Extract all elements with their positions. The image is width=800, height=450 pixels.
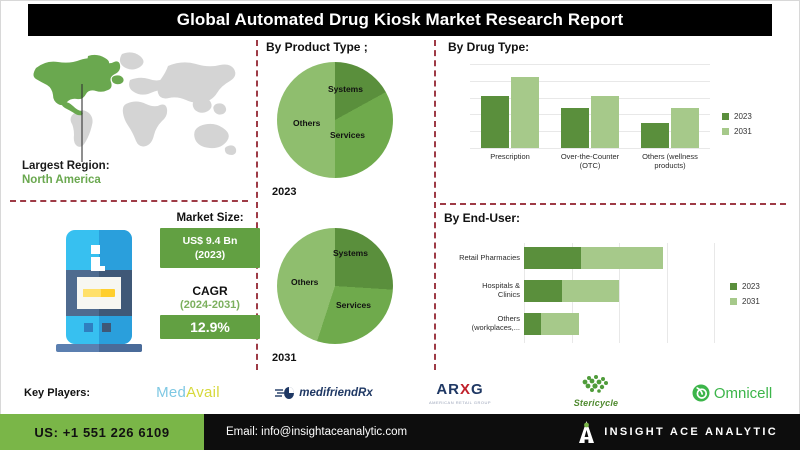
end-user-segment-2031 xyxy=(581,247,663,269)
drug-type-bar xyxy=(591,96,619,148)
pill-icon xyxy=(275,386,295,400)
divider-horizontal-left xyxy=(10,200,248,202)
legend-label-2023: 2023 xyxy=(734,112,752,121)
pie-2023-label-systems: Systems xyxy=(328,84,363,94)
drug-kiosk-icon xyxy=(44,226,154,358)
legend-swatch-2031 xyxy=(722,128,729,135)
market-size-value: US$ 9.4 Bn xyxy=(164,234,256,248)
legend-item-2023: 2023 xyxy=(722,112,752,121)
end-user-segment-2031 xyxy=(562,280,619,302)
legend-label-2031: 2031 xyxy=(734,127,752,136)
omnicell-text: Omnicell xyxy=(714,385,772,402)
legend-item-2031: 2031 xyxy=(722,127,752,136)
medifriendrx-text: medifriendRx xyxy=(299,387,373,399)
drug-type-category-label: Prescription xyxy=(470,152,550,161)
key-players-row: Key Players: MedAvail medifriendRx ARXG … xyxy=(0,372,800,414)
drug-type-category-label: Others (wellnessproducts) xyxy=(630,152,710,171)
page-title: Global Automated Drug Kiosk Market Resea… xyxy=(177,10,623,30)
drug-type-heading: By Drug Type: xyxy=(448,40,529,54)
product-type-heading: By Product Type ; xyxy=(266,40,368,54)
logo-medavail[interactable]: MedAvail xyxy=(120,384,256,402)
market-size-block: Market Size: US$ 9.4 Bn (2023) CAGR (202… xyxy=(160,212,260,339)
gridline xyxy=(714,243,715,343)
world-map-icon xyxy=(18,46,246,166)
end-user-bar-row xyxy=(524,280,714,302)
world-map xyxy=(18,46,246,166)
pie-2031-label-services: Services xyxy=(336,300,371,310)
report-title-bar: Global Automated Drug Kiosk Market Resea… xyxy=(28,4,772,36)
arxg-pre: AR xyxy=(436,381,460,398)
omnicell-mark-icon xyxy=(692,384,710,402)
stericycle-text: Stericycle xyxy=(574,398,619,408)
end-user-heading: By End-User: xyxy=(444,211,520,225)
end-user-bar-row xyxy=(524,313,714,335)
pie-2023-label-services: Services xyxy=(330,130,365,140)
medavail-avail: Avail xyxy=(186,384,220,401)
gridline xyxy=(470,148,710,149)
pie-2023-year: 2023 xyxy=(272,186,296,198)
end-user-segment-2031 xyxy=(541,313,579,335)
cagr-years: (2024-2031) xyxy=(160,299,260,311)
cagr-label: CAGR xyxy=(160,284,260,298)
gridline xyxy=(470,81,710,82)
logo-medifriendrx[interactable]: medifriendRx xyxy=(256,386,392,400)
end-user-segment-2023 xyxy=(524,247,581,269)
eu-legend-swatch-2031 xyxy=(730,298,737,305)
drug-type-bar xyxy=(481,96,509,148)
market-size-year: (2023) xyxy=(164,248,256,262)
eu-legend-item-2031: 2031 xyxy=(730,297,760,306)
legend-swatch-2023 xyxy=(722,113,729,120)
logo-arxg[interactable]: ARXG AMERICAN RETAIL GROUP xyxy=(392,381,528,405)
end-user-category-label: Others(workplaces,... xyxy=(430,314,520,333)
arxg-subtitle: AMERICAN RETAIL GROUP xyxy=(392,400,528,405)
largest-region-label: Largest Region: xyxy=(22,160,232,172)
key-players-label: Key Players: xyxy=(24,387,120,399)
arxg-post: G xyxy=(471,381,484,398)
eu-legend-item-2023: 2023 xyxy=(730,282,760,291)
arxg-x: X xyxy=(460,381,471,398)
stericycle-mark-icon xyxy=(569,375,623,393)
end-user-legend: 2023 2031 xyxy=(730,282,760,312)
footer-brand-text: INSIGHT ACE ANALYTIC xyxy=(604,426,778,438)
drug-type-bar-chart xyxy=(470,64,710,148)
market-size-label: Market Size: xyxy=(160,212,260,224)
pie-2031-year: 2031 xyxy=(272,352,296,364)
end-user-category-label: Hospitals &Clinics xyxy=(430,281,520,300)
drug-type-bar xyxy=(561,108,589,148)
pie-2023-label-others: Others xyxy=(293,118,320,128)
eu-legend-label-2031: 2031 xyxy=(742,297,760,306)
footer-bar: US: +1 551 226 6109 Email: info@insighta… xyxy=(0,414,800,450)
gridline xyxy=(470,64,710,65)
footer-email[interactable]: Email: info@insightaceanalytic.com xyxy=(204,414,578,450)
drug-type-category-label: Over-the-Counter(OTC) xyxy=(550,152,630,171)
logo-stericycle[interactable]: Stericycle xyxy=(528,375,664,411)
eu-legend-label-2023: 2023 xyxy=(742,282,760,291)
drug-type-bar xyxy=(511,77,539,148)
end-user-segment-2023 xyxy=(524,313,541,335)
largest-region-value: North America xyxy=(22,174,232,186)
pie-2031-label-systems: Systems xyxy=(333,248,368,258)
drug-type-bar xyxy=(641,123,669,148)
pie-2031-label-others: Others xyxy=(291,277,318,287)
cagr-badge: 12.9% xyxy=(160,315,260,339)
footer-brand: INSIGHT ACE ANALYTIC xyxy=(578,414,800,450)
logo-omnicell[interactable]: Omnicell xyxy=(664,384,800,402)
insight-ace-logo-icon xyxy=(578,421,595,443)
drug-type-legend: 2023 2031 xyxy=(722,112,752,142)
eu-legend-swatch-2023 xyxy=(730,283,737,290)
largest-region-block: Largest Region: North America xyxy=(22,160,232,186)
end-user-bar-row xyxy=(524,247,714,269)
divider-horizontal-right xyxy=(440,203,786,205)
market-size-badge: US$ 9.4 Bn (2023) xyxy=(160,228,260,268)
end-user-category-label: Retail Pharmacies xyxy=(430,253,520,262)
drug-type-bar xyxy=(671,108,699,148)
medavail-med: Med xyxy=(156,384,186,401)
end-user-bar-chart xyxy=(524,243,714,343)
end-user-segment-2023 xyxy=(524,280,562,302)
kiosk-illustration xyxy=(44,226,154,358)
footer-phone[interactable]: US: +1 551 226 6109 xyxy=(0,414,204,450)
